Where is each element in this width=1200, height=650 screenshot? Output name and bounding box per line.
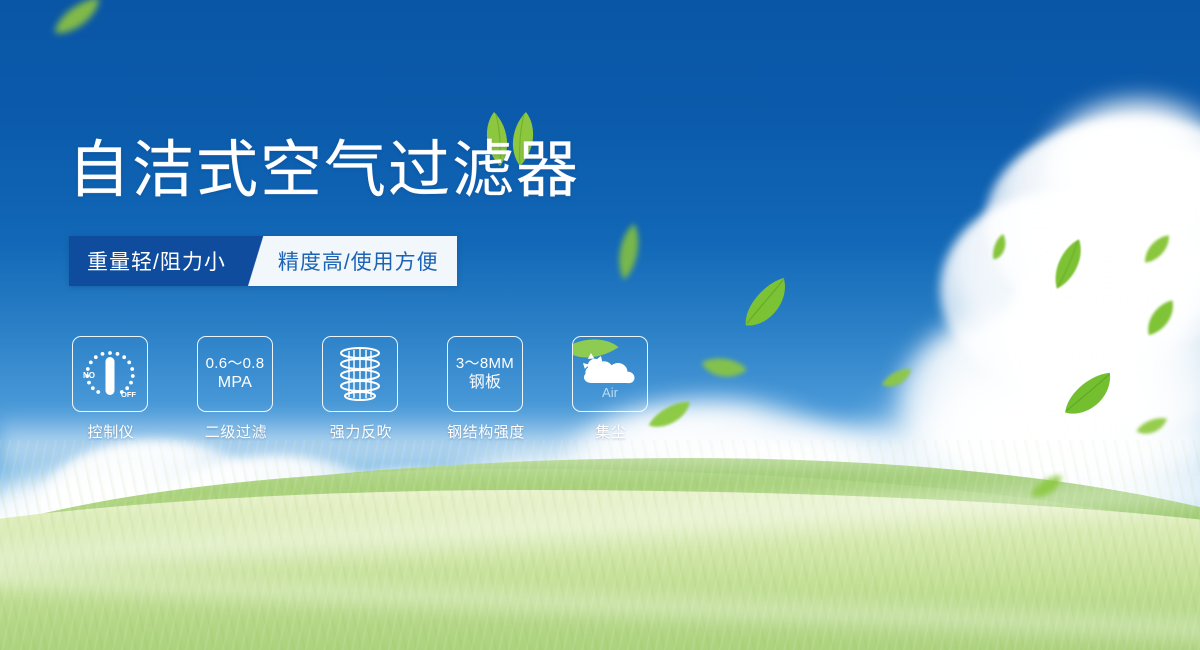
feature-item-pulse-blowing[interactable]: 强力反吹 <box>322 336 400 442</box>
product-banner: 自洁式空气过滤器 重量轻/阻力小 精度高/使用方便 <box>0 0 1200 650</box>
feature-label: 控制仪 <box>72 421 150 442</box>
subtitle-left: 重量轻/阻力小 <box>69 236 242 286</box>
steel-text: 3～8MM 钢板 <box>456 355 514 393</box>
steel-text-icon: 3～8MM 钢板 <box>447 336 523 412</box>
banner-content: 自洁式空气过滤器 重量轻/阻力小 精度高/使用方便 <box>0 0 1200 650</box>
steel-line-2: 钢板 <box>456 373 514 393</box>
feature-list: NO OFF 控制仪 0.6～0.8 MPA 二级过滤 <box>72 336 650 442</box>
pressure-line-1: 0.6～0.8 <box>206 355 265 373</box>
air-text: Air <box>602 385 619 400</box>
feature-label: 钢结构强度 <box>447 421 525 442</box>
pressure-text-icon: 0.6～0.8 MPA <box>197 336 273 412</box>
filter-coil-icon <box>322 336 398 412</box>
feature-item-steel-plate[interactable]: 3～8MM 钢板 钢结构强度 <box>447 336 525 442</box>
feature-item-dust-collect[interactable]: Air 集尘 <box>572 336 650 442</box>
pressure-text: 0.6～0.8 MPA <box>206 355 265 393</box>
feature-label: 二级过滤 <box>197 421 275 442</box>
steel-line-1: 3～8MM <box>456 355 514 373</box>
feature-label: 强力反吹 <box>322 421 400 442</box>
page-title: 自洁式空气过滤器 <box>68 140 580 202</box>
cloud-sun-air-icon: Air <box>572 336 648 412</box>
svg-text:NO: NO <box>83 371 95 380</box>
gauge-dial-icon: NO OFF <box>72 336 148 412</box>
subtitle-bar: 重量轻/阻力小 精度高/使用方便 <box>69 236 457 286</box>
svg-text:OFF: OFF <box>121 390 136 399</box>
feature-label: 集尘 <box>572 421 650 442</box>
subtitle-right: 精度高/使用方便 <box>272 236 457 286</box>
pressure-line-2: MPA <box>206 373 265 393</box>
feature-item-two-stage[interactable]: 0.6～0.8 MPA 二级过滤 <box>197 336 275 442</box>
subtitle-separator <box>242 236 272 286</box>
feature-item-controller[interactable]: NO OFF 控制仪 <box>72 336 150 442</box>
